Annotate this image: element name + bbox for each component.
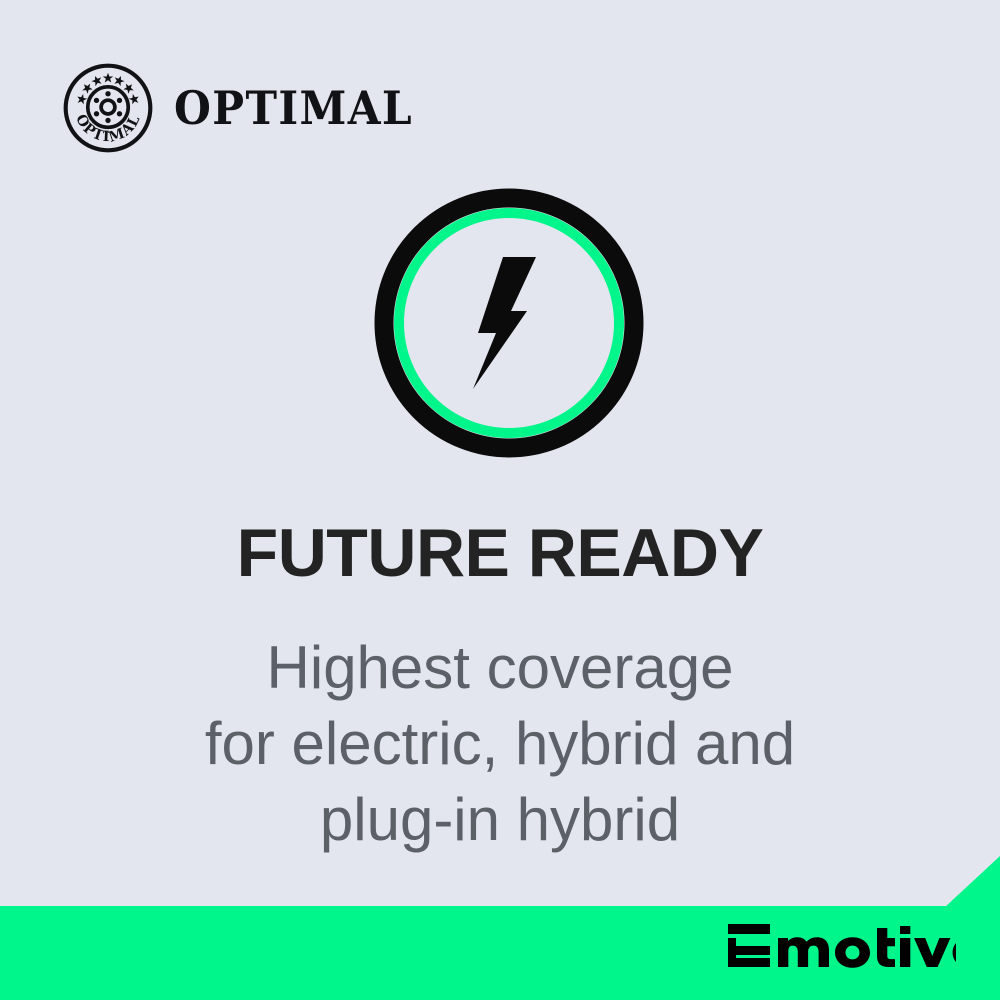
brand-wordmark: OPTIMAL <box>174 85 413 131</box>
page-title: FUTURE READY <box>0 519 1000 587</box>
lightning-bolt-in-circle-icon <box>372 186 646 460</box>
optimal-bearing-badge-icon: OPTIMAL <box>62 62 154 154</box>
brand-lockup: OPTIMAL OPTIMAL <box>62 62 434 154</box>
subtitle-line-1: Highest coverage <box>0 630 1000 706</box>
poster-canvas: OPTIMAL OPTIMAL <box>0 0 1000 1000</box>
footer-diagonal-wedge <box>944 856 1000 908</box>
subtitle-line-2: for electric, hybrid and <box>0 706 1000 782</box>
emotive-wordmark-logo <box>726 922 956 968</box>
subtitle-text: Highest coverage for electric, hybrid an… <box>0 630 1000 858</box>
subtitle-line-3: plug-in hybrid <box>0 782 1000 858</box>
